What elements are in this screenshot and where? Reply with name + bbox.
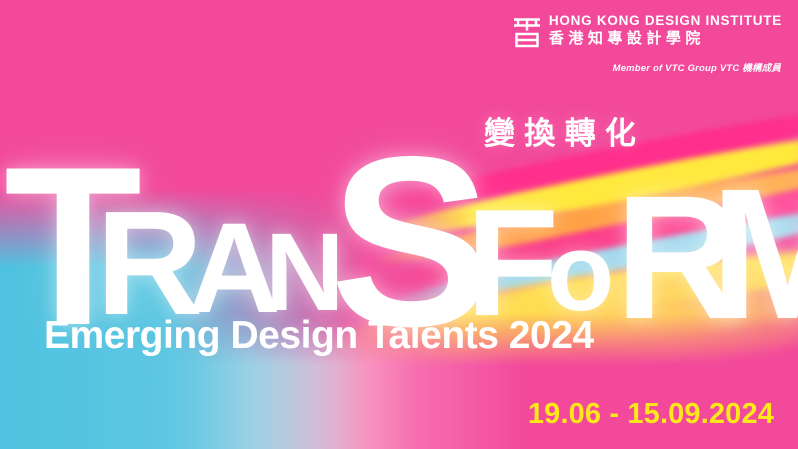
hkdi-logo-mark-icon <box>512 15 542 49</box>
chinese-headline: 變換轉化 <box>484 108 645 153</box>
vtc-member-line: Member of VTC Group VTC 機構成員 <box>613 60 781 74</box>
date-range: 19.06 - 15.09.2024 <box>528 398 774 431</box>
banner-root: HONG KONG DESIGN INSTITUTE 香港知專設計學院 Memb… <box>0 0 798 449</box>
hkdi-name-en: HONG KONG DESIGN INSTITUTE <box>549 14 782 29</box>
hkdi-logo-text: HONG KONG DESIGN INSTITUTE 香港知專設計學院 <box>549 14 782 47</box>
hkdi-logo[interactable]: HONG KONG DESIGN INSTITUTE 香港知專設計學院 <box>512 14 782 49</box>
hkdi-name-zh: 香港知專設計學院 <box>549 30 782 48</box>
event-subtitle: Emerging Design Talents 2024 <box>44 314 594 358</box>
